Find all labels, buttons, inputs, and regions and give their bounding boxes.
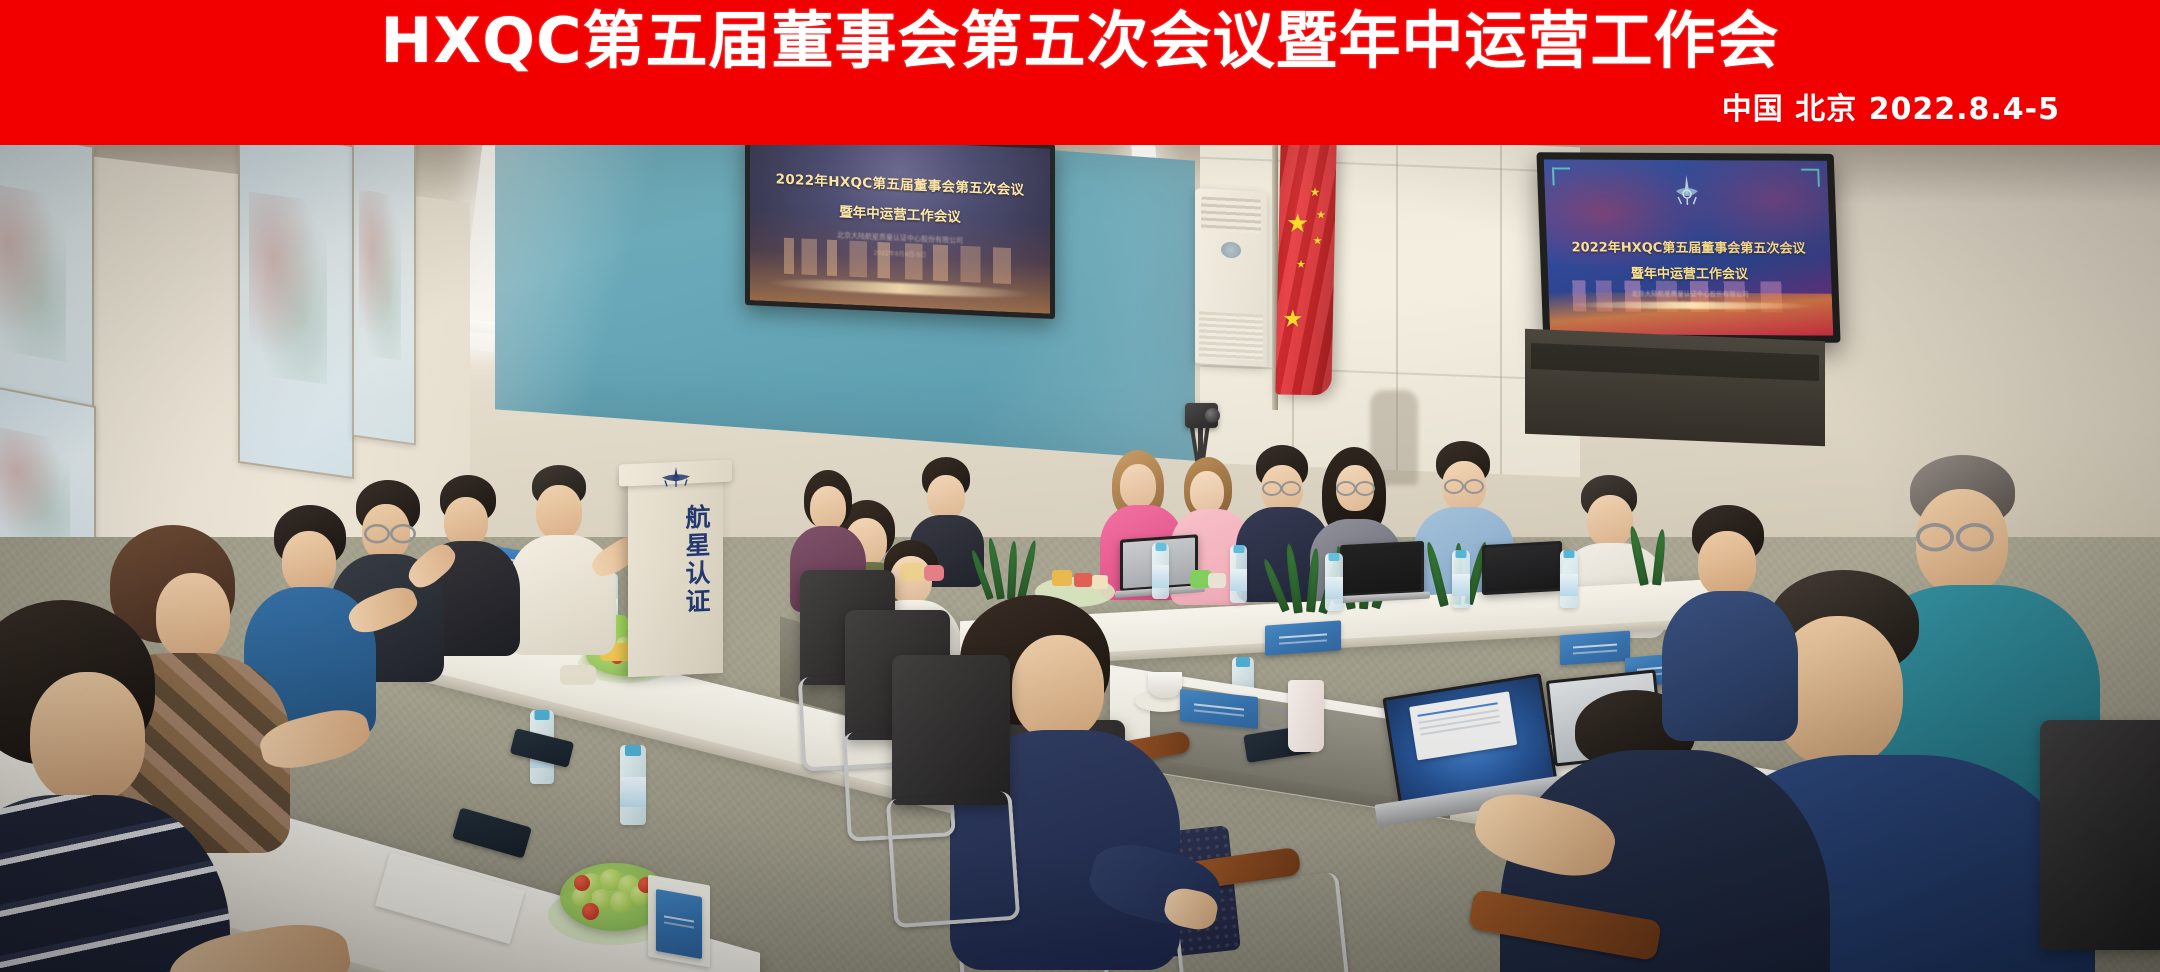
bottle-label — [1452, 574, 1470, 596]
bottle-cap — [1236, 657, 1250, 667]
water-bottle — [1452, 550, 1470, 608]
flag-star-small: ★ — [1296, 260, 1306, 271]
tv-slide-line2: 暨年中运营工作会议 — [1547, 262, 1831, 282]
head — [1120, 464, 1156, 508]
lectern: 航星认证 — [628, 473, 723, 677]
snack-item — [924, 565, 944, 581]
flag-star-large: ★ — [1286, 210, 1310, 236]
wall-map-poster — [238, 145, 354, 479]
head — [156, 573, 230, 659]
chair-leg — [886, 791, 1021, 928]
bottle-cap — [535, 710, 550, 720]
wall-tv: 2022年HXQC第五届董事会第五次会议 暨年中运营工作会议 北京大陆航星质量认… — [1536, 152, 1840, 342]
head — [536, 485, 582, 539]
projector-slide-line1: 2022年HXQC第五届董事会第五次会议 — [750, 167, 1050, 201]
torso — [1662, 591, 1798, 741]
head — [1012, 635, 1104, 740]
tv-corner-decor — [1552, 167, 1571, 185]
bottle-label — [620, 777, 646, 807]
flag-star-small: ★ — [1309, 186, 1320, 198]
head — [1190, 471, 1224, 513]
tv-slide-line3: 北京大陆航星质量认证中心股份有限公司 — [1548, 287, 1832, 298]
head — [810, 486, 846, 530]
head — [30, 672, 145, 802]
head — [444, 497, 488, 547]
bottle-cap — [1456, 550, 1467, 558]
bottle-cap — [1329, 553, 1340, 561]
water-bottle — [1152, 543, 1169, 599]
name-card — [1265, 620, 1341, 655]
water-bottle — [1560, 550, 1578, 608]
bottle-label — [1325, 577, 1343, 599]
bottle-label — [1230, 569, 1247, 591]
laptop-display — [1343, 544, 1421, 594]
head — [927, 475, 965, 519]
banner-subtitle: 中国 北京 2022.8.4-5 — [1722, 84, 2060, 128]
banner-title: HXQC第五届董事会第五次会议暨年中运营工作会 — [0, 6, 2160, 76]
water-bottle — [620, 745, 646, 825]
bottle-cap — [1564, 550, 1575, 558]
projector-slide: 2022年HXQC第五届董事会第五次会议 暨年中运营工作会议 北京大陆航星质量认… — [750, 145, 1050, 314]
document-window — [1409, 692, 1518, 761]
ac-badge — [1221, 241, 1241, 258]
wall-map-poster — [352, 145, 416, 445]
head — [282, 531, 336, 593]
name-card — [1560, 631, 1630, 666]
flag-star-small: ★ — [1312, 236, 1322, 247]
lectern-text: 航星认证 — [672, 503, 712, 617]
ac-vent — [1201, 196, 1261, 233]
snack-item — [1208, 573, 1226, 588]
snack-item — [560, 665, 596, 685]
tv-cabinet — [1525, 329, 1825, 447]
water-bottle — [1230, 545, 1247, 603]
bottle-label — [1152, 565, 1169, 587]
company-logo-icon — [658, 466, 694, 488]
flag-star-small: ★ — [1316, 210, 1326, 221]
glass-mullion — [1500, 145, 1502, 474]
office-chair-back[interactable] — [2040, 720, 2160, 950]
head — [1587, 495, 1633, 547]
snack-item — [1092, 575, 1108, 589]
bottle-cap — [1155, 543, 1166, 551]
travel-tumbler — [1288, 680, 1324, 752]
bottle-label — [1560, 574, 1578, 596]
bottle-cap — [1233, 545, 1244, 553]
air-conditioner — [1195, 188, 1267, 367]
flag-folds — [1275, 145, 1336, 396]
office-chair-back[interactable] — [892, 655, 1010, 805]
flag-star-large: ★ — [1282, 308, 1304, 332]
snack-item — [1074, 573, 1092, 587]
glass-rail — [1200, 157, 1580, 174]
tv-slide: 2022年HXQC第五届董事会第五次会议 暨年中运营工作会议 北京大陆航星质量认… — [1544, 159, 1834, 335]
bottle-cap — [625, 745, 641, 756]
coffee-cup — [1148, 672, 1182, 698]
name-card — [656, 889, 702, 959]
tv-slide-line1: 2022年HXQC第五届董事会第五次会议 — [1546, 236, 1830, 256]
projector-screen: 2022年HXQC第五届董事会第五次会议 暨年中运营工作会议 北京大陆航星质量认… — [745, 145, 1055, 319]
ac-grill — [1199, 311, 1263, 360]
snack-item — [900, 563, 924, 581]
banner: HXQC第五届董事会第五次会议暨年中运营工作会 中国 北京 2022.8.4-5 — [0, 0, 2160, 145]
glass-rail — [1200, 365, 1580, 382]
company-logo-icon — [1671, 174, 1702, 208]
laptop[interactable] — [1340, 541, 1424, 597]
conference-photo-poster: HXQC第五届董事会第五次会议暨年中运营工作会 中国 北京 2022.8.4-5 — [0, 0, 2160, 972]
head — [1698, 531, 1756, 597]
laptop[interactable] — [1482, 541, 1562, 595]
tv-slide-line4: 2022年8月4日-5日 — [1549, 299, 1833, 308]
cherry-tomato — [582, 903, 599, 920]
photo-area: 2022年HXQC第五届董事会第五次会议 暨年中运营工作会议 北京大陆航星质量认… — [0, 145, 2160, 972]
grape — [610, 891, 632, 913]
video-camera — [1185, 403, 1218, 428]
water-bottle — [1325, 553, 1343, 611]
snack-item — [1052, 570, 1072, 586]
tv-corner-decor — [1801, 169, 1820, 187]
chinese-flag: ★ ★ ★ ★ ★ ★ — [1275, 145, 1336, 396]
cherry-tomato — [574, 875, 590, 891]
laptop-display — [1485, 544, 1559, 592]
